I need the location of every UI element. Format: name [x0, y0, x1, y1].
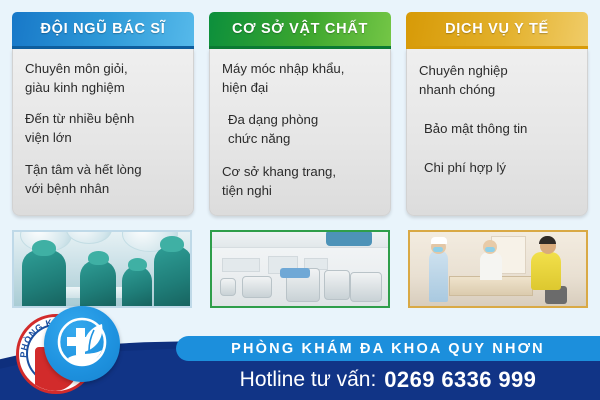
- card-bullet: Đến từ nhiều bệnhviện lớn: [25, 109, 183, 147]
- photo-consultation: [408, 230, 588, 308]
- card-bullet: Bảo mật thông tin: [419, 119, 577, 138]
- feature-card-dich-vu-y-te: DỊCH VỤ Y TẾ Chuyên nghiệpnhanh chóng Bả…: [406, 12, 588, 216]
- clinic-logo[interactable]: PHÒNG KHÁM: [14, 306, 134, 392]
- hotline-row: Hotline tư vấn: 0269 6336 999: [176, 362, 600, 398]
- card-bullet: Chi phí hợp lý: [419, 158, 577, 177]
- photo-equipment-room: [210, 230, 390, 308]
- card-header-dich-vu-y-te: DỊCH VỤ Y TẾ: [406, 12, 588, 46]
- hotline-label: Hotline tư vấn:: [240, 368, 377, 392]
- feature-card-doi-ngu-bac-si: ĐỘI NGŨ BÁC SĨ Chuyên môn giỏi,giàu kinh…: [12, 12, 194, 216]
- card-title: CƠ SỞ VẬT CHẤT: [232, 21, 368, 37]
- medical-cross-leaf-icon: [44, 306, 120, 382]
- photo-surgical-team: [12, 230, 192, 308]
- clinic-name-bar: PHÒNG KHÁM ĐA KHOA QUY NHƠN: [176, 336, 600, 361]
- card-bullet: Máy móc nhập khẩu,hiện đại: [222, 59, 380, 97]
- clinic-name: PHÒNG KHÁM ĐA KHOA QUY NHƠN: [231, 341, 545, 357]
- card-bullet: Đa dạng phòngchức năng: [222, 110, 380, 148]
- card-title: DỊCH VỤ Y TẾ: [445, 21, 549, 37]
- card-bullet: Cơ sở khang trang,tiện nghi: [222, 162, 380, 200]
- photos-row: [0, 230, 600, 310]
- hotline-number[interactable]: 0269 6336 999: [384, 367, 536, 393]
- card-bullet: Tận tâm và hết lòngvới bệnh nhân: [25, 160, 183, 198]
- card-bullet: Chuyên môn giỏi,giàu kinh nghiệm: [25, 59, 183, 97]
- card-bullet: Chuyên nghiệpnhanh chóng: [419, 61, 577, 99]
- card-title: ĐỘI NGŨ BÁC SĨ: [41, 21, 166, 37]
- card-body-co-so-vat-chat: Máy móc nhập khẩu,hiện đại Đa dạng phòng…: [209, 49, 391, 216]
- card-body-dich-vu-y-te: Chuyên nghiệpnhanh chóng Bảo mật thông t…: [406, 49, 588, 216]
- card-header-doi-ngu-bac-si: ĐỘI NGŨ BÁC SĨ: [12, 12, 194, 46]
- logo-blue-circle: [44, 306, 120, 382]
- card-header-co-so-vat-chat: CƠ SỞ VẬT CHẤT: [209, 12, 391, 46]
- feature-cards-row: ĐỘI NGŨ BÁC SĨ Chuyên môn giỏi,giàu kinh…: [0, 12, 600, 216]
- card-body-doi-ngu-bac-si: Chuyên môn giỏi,giàu kinh nghiệm Đến từ …: [12, 49, 194, 216]
- feature-card-co-so-vat-chat: CƠ SỞ VẬT CHẤT Máy móc nhập khẩu,hiện đạ…: [209, 12, 391, 216]
